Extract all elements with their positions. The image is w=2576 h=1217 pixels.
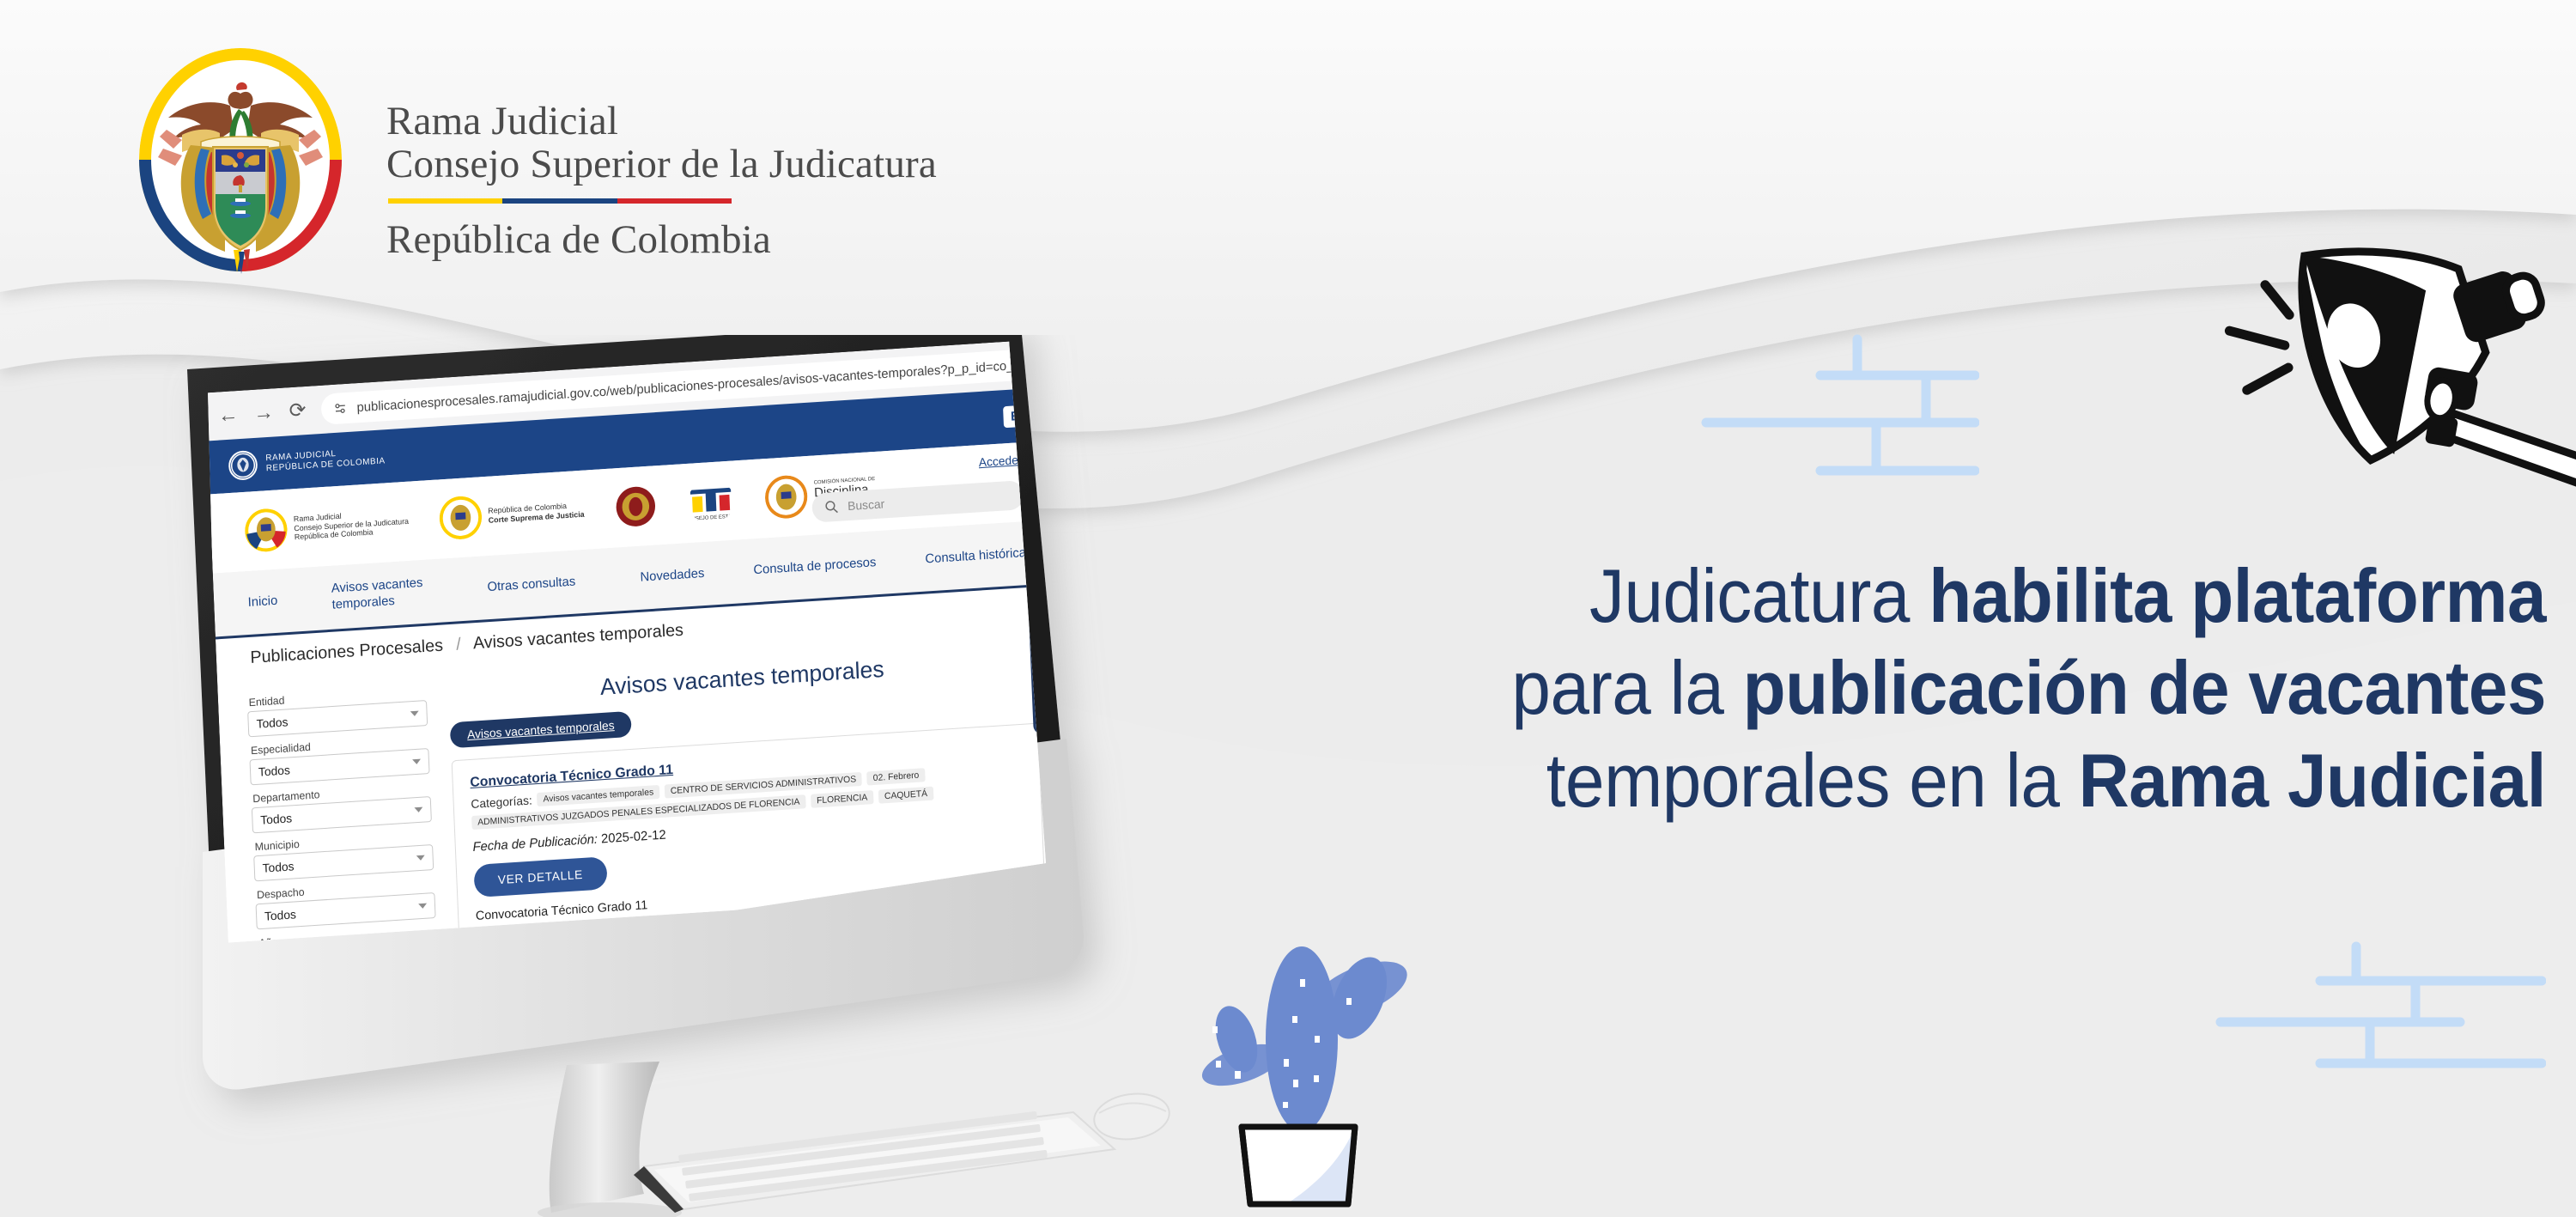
search-placeholder: Buscar — [848, 496, 885, 513]
avisos-pill-link[interactable]: Avisos vacantes temporales — [450, 711, 632, 748]
back-icon[interactable]: ← — [217, 405, 239, 427]
corte-constitucional-seal-icon — [614, 484, 658, 529]
shelf-lines-bottom-svg — [2185, 932, 2546, 1104]
filter-value-entidad: Todos — [256, 715, 288, 730]
imac-svg: ← → ⟳ publicacionesprocesales.ramajudici… — [163, 335, 1176, 1217]
headline-line-1: Judicatura habilita plataforma — [1196, 550, 2546, 642]
shelf-lines-top-svg — [1696, 322, 1979, 502]
breadcrumb-current: Avisos vacantes temporales — [473, 621, 684, 654]
nav-item-novedades[interactable]: Novedades — [640, 566, 705, 587]
brand-header: Libertad y Orden — [129, 39, 937, 281]
headline-line-3-regular: temporales en la — [1546, 738, 2079, 823]
chevron-down-icon — [416, 855, 425, 861]
headline-line-2: para la publicación de vacantes — [1196, 642, 2546, 733]
logo-rama-judicial-label: Rama JudicialConsejo Superior de la Judi… — [294, 508, 410, 543]
nav-item-avisos-vacantes-temporales[interactable]: Avisos vacantes temporales — [331, 575, 434, 613]
colombia-seal-svg: Libertad y Orden — [129, 39, 352, 281]
site-settings-icon[interactable] — [333, 400, 349, 417]
shield-group — [213, 147, 268, 250]
svg-text:CONSEJO DE ESTADO: CONSEJO DE ESTADO — [687, 514, 736, 522]
headline-line-3-bold: Rama Judicial — [2079, 738, 2546, 823]
nav-item-consulta-de-procesos[interactable]: Consulta de procesos — [753, 555, 877, 579]
nav-item-inicio[interactable]: Inicio — [247, 593, 277, 611]
filter-value-departamento: Todos — [260, 811, 292, 826]
headline-line-3: temporales en la Rama Judicial — [1196, 734, 2546, 826]
shelf-pattern-bottom — [2185, 932, 2546, 1104]
chevron-down-icon — [418, 904, 427, 910]
filter-select-ano[interactable]: Todos — [258, 940, 438, 942]
brand-line-3: República de Colombia — [386, 207, 937, 262]
tricolor-divider — [388, 198, 732, 204]
corte-suprema-seal-icon — [438, 495, 482, 540]
logo-consejo-de-estado[interactable]: CONSEJO DE ESTADO — [687, 478, 736, 525]
megaphone-svg — [2215, 198, 2576, 541]
filter-value-especialidad: Todos — [258, 763, 290, 778]
category-tag[interactable]: FLORENCIA — [811, 790, 874, 808]
publication-date-label: Fecha de Publicación: — [472, 832, 598, 855]
category-tag[interactable]: Avisos vacantes temporales — [537, 785, 659, 806]
gov-topbar-logo: RAMA JUDICIAL REPÚBLICA DE COLOMBIA — [228, 441, 386, 481]
logo-rama-judicial[interactable]: Rama JudicialConsejo Superior de la Judi… — [244, 500, 410, 553]
megaphone-icon — [2215, 198, 2576, 545]
site-nav-right: Novedades Consulta de procesos Consulta … — [640, 545, 1026, 586]
breadcrumb-separator: / — [456, 635, 461, 654]
browser-window: ← → ⟳ publicacionesprocesales.ramajudici… — [205, 338, 1074, 942]
gov-topbar-text: RAMA JUDICIAL REPÚBLICA DE COLOMBIA — [265, 446, 386, 475]
nav-item-otras-consultas[interactable]: Otras consultas — [487, 574, 575, 595]
category-tag[interactable]: CAQUETÁ — [878, 787, 933, 804]
consejo-de-estado-icon: CONSEJO DE ESTADO — [687, 478, 736, 525]
cactus-illustration — [1183, 876, 1441, 1217]
brand-line-1: Rama Judicial — [386, 100, 937, 143]
brand-text-block: Rama Judicial Consejo Superior de la Jud… — [386, 39, 937, 261]
mini-seal-icon — [228, 450, 258, 481]
imac-mockup: ← → ⟳ publicacionesprocesales.ramajudici… — [163, 335, 1176, 1217]
rama-judicial-seal-icon — [244, 508, 288, 553]
search-icon — [823, 499, 839, 515]
categories-label: Categorías: — [471, 793, 532, 811]
filter-value-despacho: Todos — [264, 907, 296, 922]
headline-line-1-bold: habilita plataforma — [1929, 553, 2546, 638]
headline-line-2-bold: publicación de vacantes — [1743, 645, 2546, 730]
keyboard — [634, 1111, 1115, 1213]
headline-block: Judicatura habilita plataforma para la p… — [1095, 550, 2546, 826]
breadcrumb-root[interactable]: Publicaciones Procesales — [250, 636, 443, 667]
acceder-link[interactable]: Acceder — [978, 453, 1022, 469]
mouse — [1091, 1089, 1172, 1144]
chevron-down-icon — [412, 759, 421, 765]
chevron-down-icon — [410, 711, 419, 717]
filters-panel: Entidad Todos Especialidad Todos Departa… — [246, 685, 440, 942]
chevron-down-icon — [414, 807, 422, 813]
cactus-svg — [1183, 876, 1441, 1217]
disciplina-judicial-seal-icon — [764, 474, 808, 520]
logo-corte-suprema-label: República de ColombiaCorte Suprema de Ju… — [488, 501, 585, 526]
brand-line-2: Consejo Superior de la Judicatura — [386, 143, 937, 186]
colombia-seal-icon: Libertad y Orden — [129, 39, 352, 281]
ver-detalle-button[interactable]: VER DETALLE — [473, 856, 607, 898]
category-tag[interactable]: 02. Febrero — [867, 768, 926, 785]
logo-corte-constitucional[interactable] — [614, 484, 658, 529]
reload-icon[interactable]: ⟳ — [289, 400, 307, 422]
shelf-pattern-top — [1696, 322, 1979, 502]
nav-item-consulta-historica[interactable]: Consulta histórica — [925, 545, 1026, 568]
publication-date-value: 2025-02-12 — [601, 828, 666, 847]
headline-line-1-regular: Judicatura — [1589, 553, 1929, 638]
filter-label-ano: Año — [258, 926, 436, 942]
filter-value-municipio: Todos — [262, 859, 294, 874]
logo-corte-suprema[interactable]: República de ColombiaCorte Suprema de Ju… — [438, 489, 585, 541]
forward-icon[interactable]: → — [253, 402, 275, 424]
headline-line-2-regular: para la — [1511, 645, 1742, 730]
